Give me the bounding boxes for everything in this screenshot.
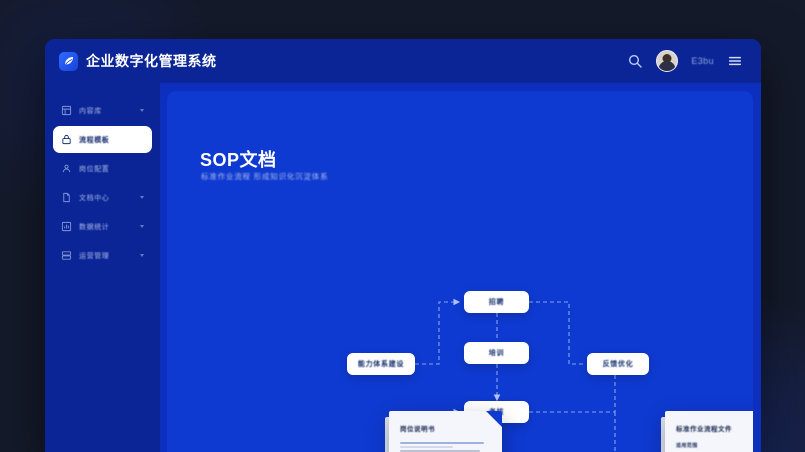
chevron-down-icon [140, 254, 144, 257]
search-icon[interactable] [627, 53, 643, 69]
sidebar-item-data-statistics[interactable]: 数据统计 [53, 213, 152, 240]
sidebar-label: 文档中心 [79, 193, 109, 203]
sidebar: 内容库 流程模板 岗位配置 文档中心 [45, 83, 160, 452]
flow-node-label: 反馈优化 [603, 359, 634, 369]
sidebar-item-document-center[interactable]: 文档中心 [53, 184, 152, 211]
document-card-left[interactable]: 岗位说明书 岗位职责与任职要求明细说明 考核标准（试行版） [389, 411, 502, 452]
flow-connectors [167, 91, 753, 452]
chevron-down-icon [140, 109, 144, 112]
person-icon [61, 163, 72, 174]
sidebar-item-process-template[interactable]: 流程模板 [53, 126, 152, 153]
sidebar-label: 运营管理 [79, 251, 109, 261]
flow-node-label: 能力体系建设 [358, 359, 404, 369]
grid-icon [61, 105, 72, 116]
hamburger-menu-icon[interactable] [727, 53, 743, 69]
lock-icon [61, 134, 72, 145]
brand-title: 企业数字化管理系统 [86, 51, 217, 71]
flow-node-label: 培训 [489, 348, 504, 358]
doc-title: 岗位说明书 [400, 423, 491, 433]
app-root: 企业数字化管理系统 E3bu [0, 0, 805, 452]
username-label: E3bu [691, 56, 714, 66]
sidebar-label: 内容库 [79, 106, 102, 116]
doc-section-heading: 适用范围 [676, 442, 753, 449]
flow-node-label: 招聘 [489, 297, 504, 307]
brand[interactable]: 企业数字化管理系统 [59, 51, 217, 71]
flow-node-left[interactable]: 能力体系建设 [347, 353, 415, 375]
avatar[interactable] [656, 50, 678, 72]
leaf-logo-icon [59, 52, 78, 71]
sidebar-label: 数据统计 [79, 222, 109, 232]
sidebar-item-position-config[interactable]: 岗位配置 [53, 155, 152, 182]
sidebar-item-operation-management[interactable]: 运营管理 [53, 242, 152, 269]
app-window: 企业数字化管理系统 E3bu [45, 39, 761, 452]
content-panel: SOP文档 标准作业流程 形成知识化沉淀体系 [167, 91, 753, 452]
sidebar-item-content-library[interactable]: 内容库 [53, 97, 152, 124]
flow-node-top[interactable]: 招聘 [464, 291, 529, 313]
flow-node-right[interactable]: 反馈优化 [587, 353, 649, 375]
flow-node-middle[interactable]: 培训 [464, 342, 529, 364]
chevron-down-icon [140, 196, 144, 199]
server-icon [61, 250, 72, 261]
header-actions: E3bu [627, 50, 743, 72]
document-card-right[interactable]: 标准作业流程文件 适用范围 [665, 411, 753, 452]
doc-title: 标准作业流程文件 [676, 423, 753, 433]
chart-icon [61, 221, 72, 232]
app-header: 企业数字化管理系统 E3bu [45, 39, 761, 83]
sidebar-label: 流程模板 [79, 135, 109, 145]
document-icon [61, 192, 72, 203]
sidebar-label: 岗位配置 [79, 164, 109, 174]
chevron-down-icon [140, 225, 144, 228]
